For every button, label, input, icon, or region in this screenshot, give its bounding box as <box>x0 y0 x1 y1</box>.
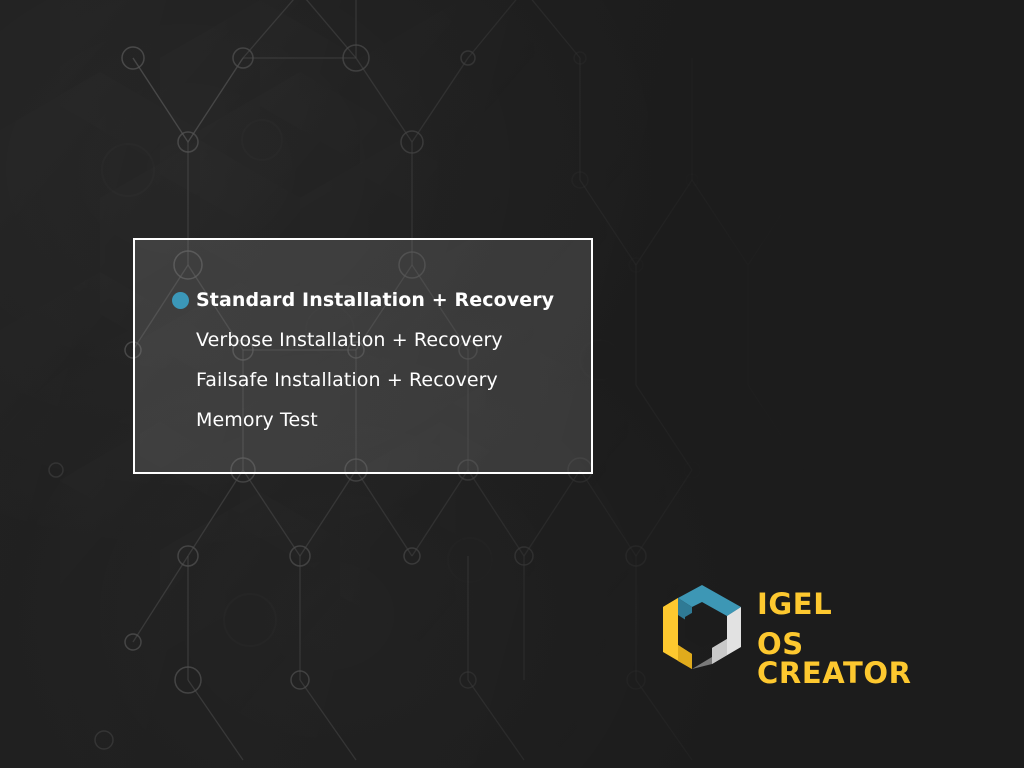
boot-menu-item-memory-test[interactable]: Memory Test <box>135 400 591 440</box>
logo-line-igel: IGEL <box>757 590 966 619</box>
boot-menu-item-label: Memory Test <box>196 400 318 440</box>
boot-menu-panel[interactable]: Standard Installation + Recovery Verbose… <box>133 238 593 474</box>
boot-menu-item-standard[interactable]: Standard Installation + Recovery <box>135 280 591 320</box>
igel-hexagon-mark-icon <box>661 585 743 669</box>
logo-line-os-creator: OS CREATOR <box>757 630 966 688</box>
boot-menu-item-verbose[interactable]: Verbose Installation + Recovery <box>135 320 591 360</box>
boot-menu-item-label: Standard Installation + Recovery <box>196 280 554 320</box>
boot-menu-item-label: Failsafe Installation + Recovery <box>196 360 498 400</box>
selection-bullet-icon <box>172 292 189 309</box>
boot-menu-item-failsafe[interactable]: Failsafe Installation + Recovery <box>135 360 591 400</box>
logo-wordmark: IGEL OS CREATOR <box>757 590 966 688</box>
boot-menu-item-label: Verbose Installation + Recovery <box>196 320 503 360</box>
igel-os-creator-logo: IGEL OS CREATOR <box>661 585 966 673</box>
boot-menu-list: Standard Installation + Recovery Verbose… <box>135 280 591 440</box>
boot-screen: Standard Installation + Recovery Verbose… <box>0 0 1024 768</box>
